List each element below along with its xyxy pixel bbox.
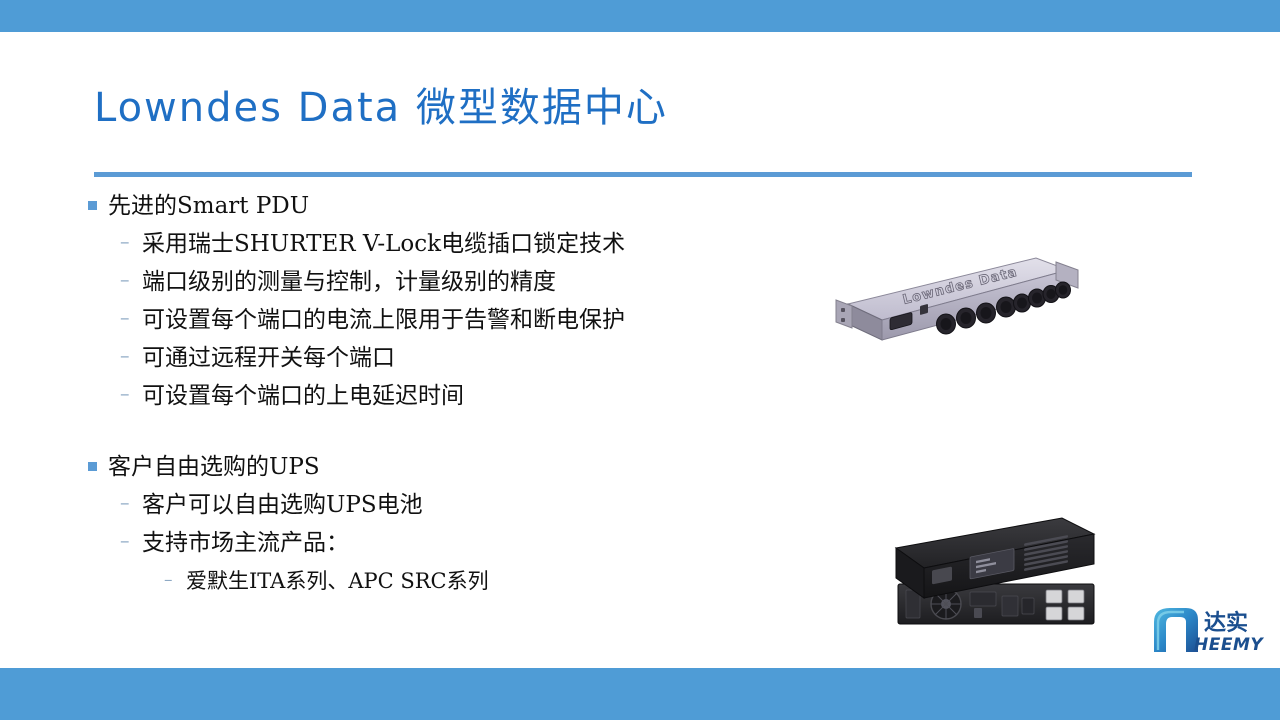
page-title: Lowndes Data 微型数据中心	[94, 79, 1194, 141]
bullet-list: 先进的Smart PDU – 采用瑞士SHURTER V-Lock电缆插口锁定技…	[88, 188, 848, 600]
logo-mark-icon	[1154, 608, 1198, 652]
list-item: – 采用瑞士SHURTER V-Lock电缆插口锁定技术	[88, 225, 848, 263]
top-banner	[0, 0, 1280, 32]
slide-root: Lowndes Data 微型数据中心 先进的Smart PDU – 采用瑞士S…	[0, 0, 1280, 720]
list-item-label: 端口级别的测量与控制，计量级别的精度	[142, 263, 556, 301]
list-item: – 可通过远程开关每个端口	[88, 339, 848, 377]
list-item-label: 客户可以自由选购UPS电池	[142, 486, 423, 524]
bottom-banner	[0, 668, 1280, 720]
list-item-label: 可设置每个端口的上电延迟时间	[142, 377, 464, 415]
dash-bullet-icon: –	[120, 261, 142, 299]
list-item: – 可设置每个端口的上电延迟时间	[88, 377, 848, 415]
list-item: – 支持市场主流产品：	[88, 524, 848, 562]
list-item-label: 可设置每个端口的电流上限用于告警和断电保护	[142, 301, 625, 339]
dash-bullet-icon: –	[120, 375, 142, 413]
dash-bullet-icon: –	[120, 484, 142, 522]
logo-chinese-text: 达实	[1204, 610, 1248, 636]
list-item-label: 支持市场主流产品：	[142, 524, 349, 562]
dash-bullet-icon: –	[164, 561, 186, 599]
list-item-label: 客户自由选购的UPS	[108, 449, 320, 486]
dash-bullet-icon: –	[120, 299, 142, 337]
list-item: – 客户可以自由选购UPS电池	[88, 486, 848, 524]
list-item-label: 先进的Smart PDU	[108, 188, 309, 225]
pdu-product-image: Lowndes Data	[812, 248, 1084, 354]
dash-bullet-icon: –	[120, 337, 142, 375]
list-item: – 可设置每个端口的电流上限用于告警和断电保护	[88, 301, 848, 339]
ups-product-image	[862, 512, 1114, 630]
list-item-label: 可通过远程开关每个端口	[142, 339, 395, 377]
list-item: 客户自由选购的UPS	[88, 449, 848, 486]
list-item-label: 爱默生ITA系列、APC SRC系列	[186, 562, 489, 600]
dash-bullet-icon: –	[120, 522, 142, 560]
square-bullet-icon	[88, 449, 108, 486]
title-divider	[94, 172, 1192, 177]
list-item: 先进的Smart PDU	[88, 188, 848, 225]
section-gap	[88, 415, 848, 449]
logo-latin-text: HEEMY	[1194, 635, 1264, 655]
dash-bullet-icon: –	[120, 223, 142, 261]
square-bullet-icon	[88, 188, 108, 225]
dashi-heemy-logo: 达实 HEEMY	[1148, 604, 1272, 658]
list-item: – 爱默生ITA系列、APC SRC系列	[88, 562, 848, 600]
list-item: – 端口级别的测量与控制，计量级别的精度	[88, 263, 848, 301]
list-item-label: 采用瑞士SHURTER V-Lock电缆插口锁定技术	[142, 225, 625, 263]
